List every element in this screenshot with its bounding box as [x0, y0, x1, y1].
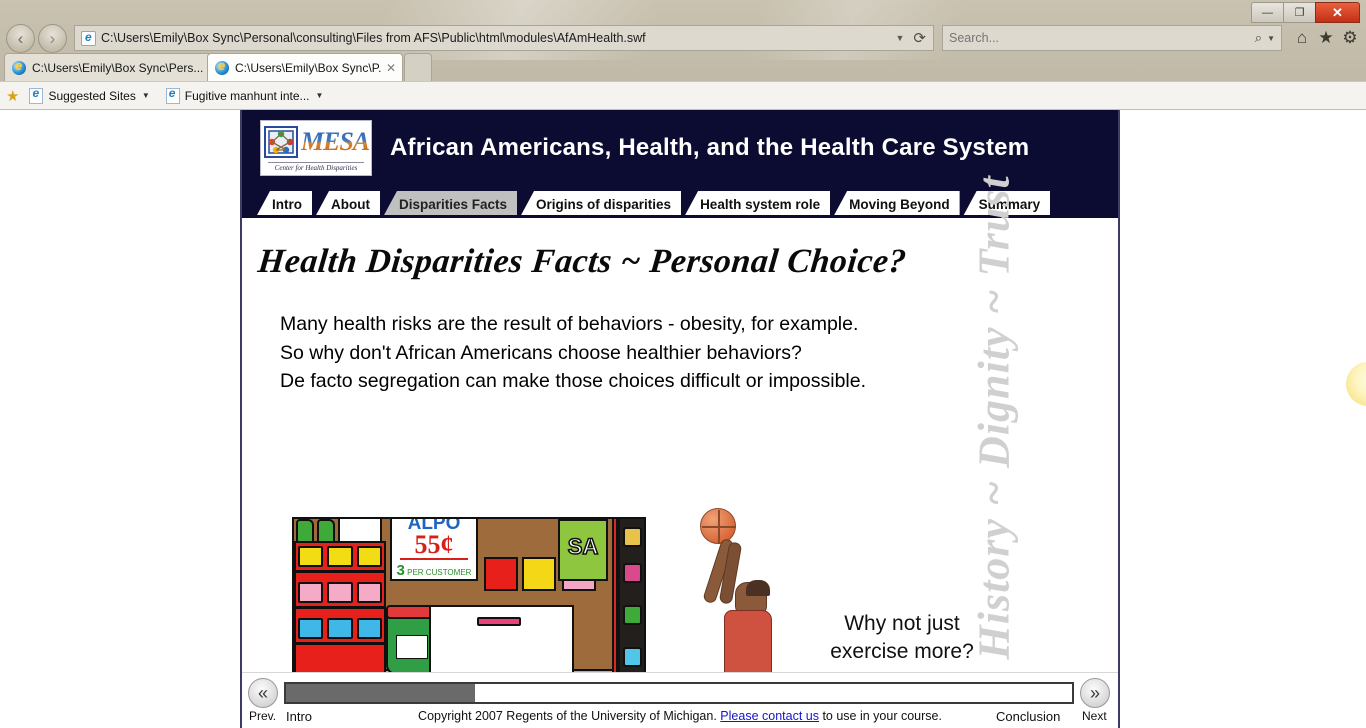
copyright-line: Copyright 2007 Regents of the University…: [242, 709, 1118, 723]
tab-health-system-role[interactable]: Health system role: [684, 191, 830, 217]
decorative-yellow-circle: [1346, 362, 1366, 406]
store-poster: [522, 557, 556, 591]
browser-tab[interactable]: C:\Users\Emily\Box Sync\Pers...: [4, 53, 212, 81]
chevron-down-icon[interactable]: ▼: [316, 91, 324, 100]
exercise-prompt-text: Why not just exercise more?: [802, 610, 1002, 666]
address-bar[interactable]: C:\Users\Emily\Box Sync\Personal\consult…: [74, 25, 934, 51]
slide-title: Health Disparities Facts ~ Personal Choi…: [256, 243, 908, 281]
page-viewport: MESA Center for Health Disparities Afric…: [0, 110, 1366, 728]
next-label: Next: [1082, 709, 1107, 723]
page-title: African Americans, Health, and the Healt…: [390, 134, 1029, 162]
browser-tab-title: C:\Users\Emily\Box Sync\Pers...: [32, 61, 205, 75]
gear-icon[interactable]: ⚙: [1338, 26, 1362, 50]
copyright-prefix: Copyright 2007 Regents of the University…: [418, 709, 720, 723]
tab-summary[interactable]: Summary: [963, 191, 1051, 217]
price-sign-brand: ALPO: [392, 517, 476, 531]
sale-sign-text: SA: [560, 521, 606, 573]
tab-origins-of-disparities[interactable]: Origins of disparities: [520, 191, 681, 217]
contact-us-link[interactable]: Please contact us: [720, 709, 819, 723]
back-arrow-icon[interactable]: ‹: [6, 24, 35, 53]
favorites-star-icon[interactable]: ★: [1314, 26, 1338, 50]
minimize-button[interactable]: —: [1251, 2, 1284, 23]
mesa-tagline: Center for Health Disparities: [268, 162, 364, 172]
watermark-text: History ~ Dignity ~ Trust: [969, 220, 1020, 660]
close-icon[interactable]: ✕: [386, 61, 396, 75]
page-icon: [166, 88, 180, 104]
restore-button[interactable]: ❐: [1283, 2, 1316, 23]
search-input[interactable]: [949, 31, 1255, 45]
tab-intro[interactable]: Intro: [256, 191, 312, 217]
tab-about[interactable]: About: [315, 191, 380, 217]
store-poster: [484, 557, 518, 591]
module-footer: « Prev. Intro Conclusion Copyright 2007 …: [242, 672, 1118, 728]
price-sign-qty-text: PER CUSTOMER: [407, 568, 471, 577]
store-price-sign: ALPO 55¢ 3 PER CUSTOMER: [390, 517, 478, 581]
store-small-sign: [338, 517, 382, 543]
url-text: C:\Users\Emily\Box Sync\Personal\consult…: [101, 31, 892, 45]
browser-tab-title: C:\Users\Emily\Box Sync\P...: [235, 61, 382, 75]
navigation-row: ‹ › C:\Users\Emily\Box Sync\Personal\con…: [0, 24, 1366, 54]
ie-logo-icon: [11, 60, 27, 76]
ie-logo-icon: [214, 60, 230, 76]
store-freezer-chest: [429, 605, 574, 679]
favorites-bar: ★ Suggested Sites ▼ Fugitive manhunt int…: [0, 81, 1366, 110]
page-icon: [29, 88, 43, 104]
freezer-handle: [477, 617, 521, 626]
favorite-label: Fugitive manhunt inte...: [185, 89, 310, 103]
progress-bar[interactable]: [284, 682, 1074, 704]
price-sign-limit: 3 PER CUSTOMER: [392, 560, 476, 579]
page-favicon-icon: [81, 31, 96, 46]
mesa-logo: MESA Center for Health Disparities: [260, 120, 372, 176]
trash-label: [396, 635, 428, 659]
slide-body-text: Many health risks are the result of beha…: [280, 310, 1040, 396]
price-sign-qty: 3: [397, 562, 405, 579]
refresh-icon[interactable]: ⟳: [913, 29, 926, 47]
module-body: History ~ Dignity ~ Trust Health Dispari…: [242, 218, 1118, 728]
mesa-wordmark: MESA: [301, 127, 369, 157]
search-bar[interactable]: ⌕ ▼: [942, 25, 1282, 51]
next-button[interactable]: »: [1080, 678, 1110, 708]
store-sale-sign: SA: [558, 519, 608, 581]
tab-disparities-facts[interactable]: Disparities Facts: [383, 191, 517, 217]
module-tab-bar: Intro About Disparities Facts Origins of…: [242, 185, 1118, 217]
chevron-down-icon[interactable]: ▼: [896, 33, 905, 43]
prev-button[interactable]: «: [248, 678, 278, 708]
tab-moving-beyond[interactable]: Moving Beyond: [833, 191, 960, 217]
price-sign-amount: 55¢: [392, 531, 476, 558]
flash-module-stage: MESA Center for Health Disparities Afric…: [240, 110, 1120, 728]
progress-bar-fill: [286, 684, 475, 702]
window-controls: — ❐ ✕: [1252, 2, 1360, 23]
forward-arrow-icon[interactable]: ›: [38, 24, 67, 53]
favorite-label: Suggested Sites: [48, 89, 135, 103]
close-button[interactable]: ✕: [1315, 2, 1360, 23]
favorite-item-suggested-sites[interactable]: Suggested Sites ▼: [29, 88, 149, 104]
copyright-suffix: to use in your course.: [819, 709, 942, 723]
mesa-mark-icon: [263, 125, 299, 159]
chevron-down-icon[interactable]: ▼: [142, 91, 150, 100]
home-icon[interactable]: ⌂: [1290, 26, 1314, 50]
new-tab-button[interactable]: [404, 53, 432, 81]
module-header: MESA Center for Health Disparities Afric…: [242, 110, 1118, 185]
browser-tab-strip: C:\Users\Emily\Box Sync\Pers... C:\Users…: [0, 53, 1366, 81]
add-favorite-icon[interactable]: ★: [6, 87, 19, 105]
favorite-item-fugitive-manhunt[interactable]: Fugitive manhunt inte... ▼: [166, 88, 324, 104]
store-left-shelf: [294, 541, 386, 679]
search-icon[interactable]: ⌕: [1255, 30, 1262, 46]
browser-chrome: — ❐ ✕ ‹ › C:\Users\Emily\Box Sync\Person…: [0, 0, 1366, 110]
chevron-down-icon[interactable]: ▼: [1267, 34, 1275, 43]
browser-tab-active[interactable]: C:\Users\Emily\Box Sync\P... ✕: [207, 53, 403, 81]
